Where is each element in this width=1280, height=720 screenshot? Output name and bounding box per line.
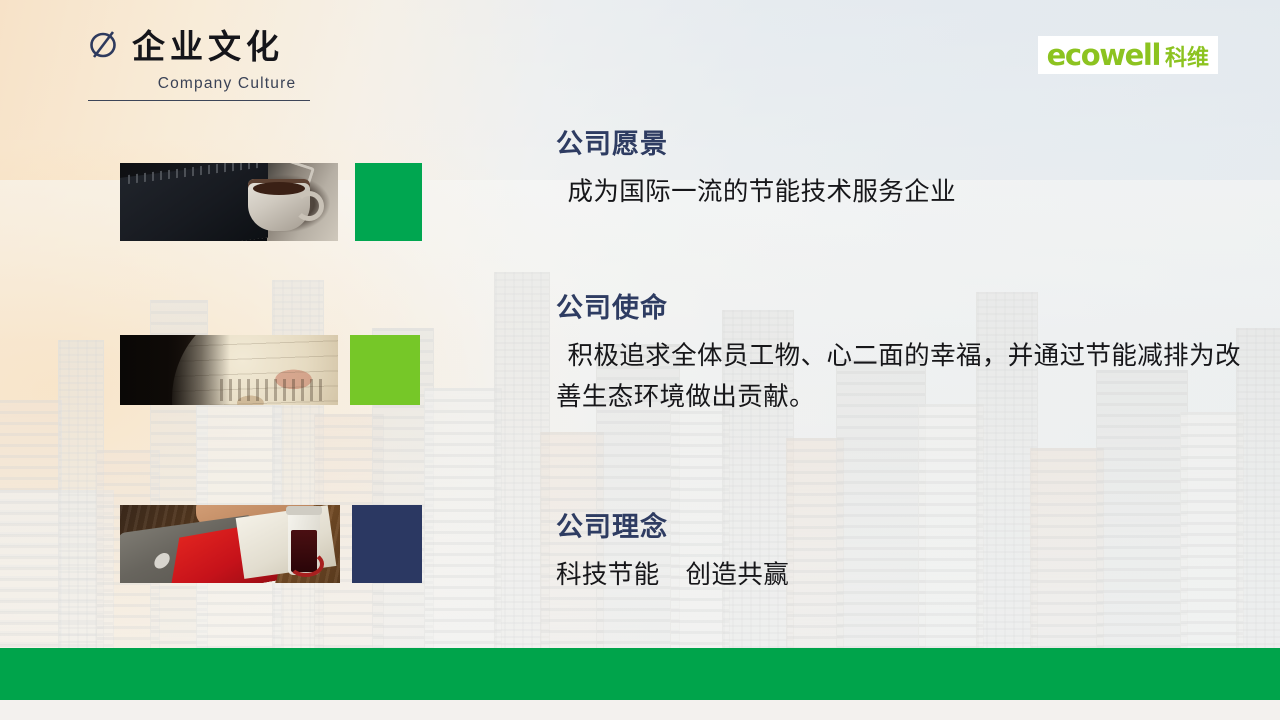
footer-bottom-strip: [0, 700, 1280, 720]
page-title-cn: 企业文化: [132, 30, 284, 65]
mission-body: 积极追求全体员工物、心二面的幸福，并通过节能减排为改善生态环境做出贡献。: [556, 336, 1256, 419]
philosophy-block: 公司理念 科技节能 创造共赢: [556, 513, 1246, 596]
green-swatch: [355, 163, 422, 241]
philosophy-body: 科技节能 创造共赢: [556, 555, 1246, 596]
logo-latin-text: ecowell: [1047, 41, 1160, 70]
globe-map-photo: [120, 335, 338, 405]
page-title: 企业文化 Company Culture: [88, 30, 388, 101]
background-city-skyline: [0, 180, 1280, 700]
slide-canvas: 企业文化 Company Culture ecowell 科维: [0, 0, 1280, 720]
vision-heading: 公司愿景: [556, 130, 1246, 160]
vision-block: 公司愿景 成为国际一流的节能技术服务企业: [556, 130, 1246, 213]
page-title-en: Company Culture: [88, 75, 388, 93]
navy-swatch: [352, 505, 422, 583]
slashed-circle-icon: [88, 30, 120, 64]
notebook-and-coffee-photo: [120, 163, 338, 241]
philosophy-heading: 公司理念: [556, 513, 1246, 543]
logo-cn-text: 科维: [1165, 47, 1209, 69]
footer-green-bar: [0, 648, 1280, 700]
mission-heading: 公司使命: [556, 294, 1256, 324]
light-green-swatch: [350, 335, 420, 405]
vision-body: 成为国际一流的节能技术服务企业: [556, 172, 1246, 213]
ecowell-logo: ecowell 科维: [1038, 36, 1218, 74]
mission-block: 公司使命 积极追求全体员工物、心二面的幸福，并通过节能减排为改善生态环境做出贡献…: [556, 294, 1256, 418]
title-underline: [88, 100, 310, 102]
desk-laptop-notebook-photo: [120, 505, 340, 583]
